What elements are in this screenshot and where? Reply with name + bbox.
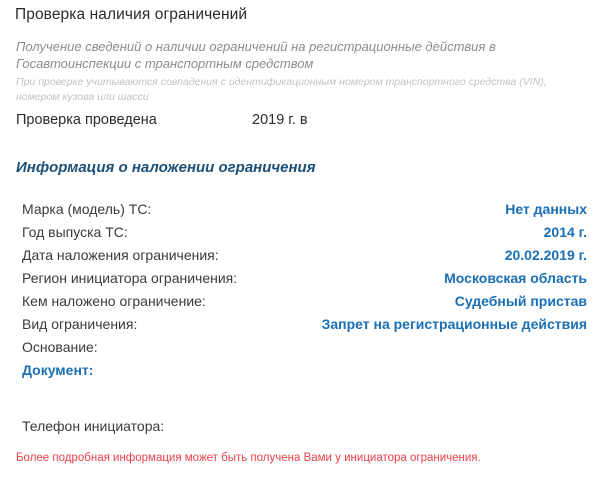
restriction-check-document: Проверка наличия ограничений Получение с… [0,0,601,479]
page-title: Проверка наличия ограничений [15,6,247,24]
table-row: Марка (модель) ТС: Нет данных [0,198,601,221]
table-row: Регион инициатора ограничения: Московска… [0,267,601,290]
row-label-basis: Основание: [22,336,98,359]
check-performed-value: 2019 г. в [252,112,308,128]
row-label-document: Документ: [22,359,93,382]
row-value-brand-model: Нет данных [505,198,587,221]
table-row: Дата наложения ограничения: 20.02.2019 г… [0,244,601,267]
row-label-restriction-type: Вид ограничения: [22,313,137,336]
table-row: Документ: [0,359,601,382]
row-label-production-year: Год выпуска ТС: [22,221,128,244]
row-label-initiator-region: Регион инициатора ограничения: [22,267,237,290]
row-label-brand-model: Марка (модель) ТС: [22,198,151,221]
restriction-info-table: Марка (модель) ТС: Нет данных Год выпуск… [0,198,601,382]
table-row: Основание: [0,336,601,359]
document-subtitle: Получение сведений о наличии ограничений… [16,38,536,72]
row-value-initiator-region: Московская область [444,267,587,290]
table-row: Вид ограничения: Запрет на регистрационн… [0,313,601,336]
row-value-production-year: 2014 г. [544,221,587,244]
table-row: Год выпуска ТС: 2014 г. [0,221,601,244]
row-value-imposed-by: Судебный пристав [455,290,587,313]
check-performed-label: Проверка проведена [16,112,252,128]
section-heading-restriction-info: Информация о наложении ограничения [16,159,316,176]
row-value-restriction-type: Запрет на регистрационные действия [322,313,587,336]
document-note: При проверке учитываются совпадения с ид… [16,75,588,105]
table-row: Кем наложено ограничение: Судебный прист… [0,290,601,313]
row-value-restriction-date: 20.02.2019 г. [505,244,587,267]
row-label-restriction-date: Дата наложения ограничения: [22,244,219,267]
row-label-imposed-by: Кем наложено ограничение: [22,290,206,313]
warning-text: Более подробная информация может быть по… [16,452,481,464]
initiator-phone-label: Телефон инициатора: [22,418,164,434]
check-performed-row: Проверка проведена2019 г. в [16,112,586,128]
